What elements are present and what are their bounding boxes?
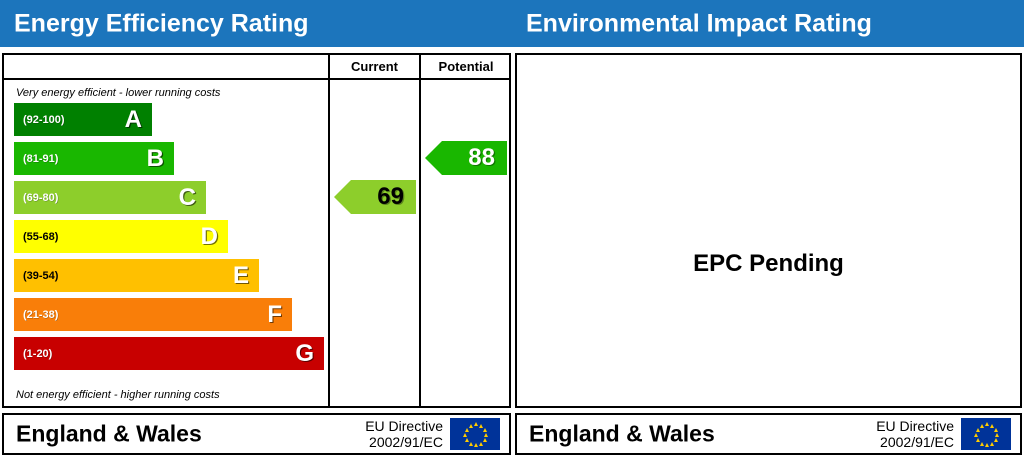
eu-star-icon bbox=[985, 422, 989, 426]
current-rating-arrow: 69 bbox=[334, 180, 416, 214]
rating-band-c: (69-80) C bbox=[14, 181, 206, 214]
energy-efficiency-title: Energy Efficiency Rating bbox=[14, 9, 309, 38]
band-letter-f: F bbox=[267, 303, 282, 327]
environmental-impact-footer: England & Wales EU Directive 2002/91/EC bbox=[515, 413, 1022, 455]
current-rating-value: 69 bbox=[377, 185, 404, 209]
band-letter-g: G bbox=[295, 342, 314, 366]
eu-star-icon bbox=[469, 424, 473, 428]
energy-efficiency-header: Energy Efficiency Rating bbox=[0, 0, 512, 47]
column-header-potential: Potential bbox=[421, 58, 511, 76]
band-letter-a: A bbox=[125, 108, 142, 132]
footer-directive-line2-right: 2002/91/EC bbox=[876, 434, 954, 450]
environmental-impact-chart: EPC Pending bbox=[515, 53, 1022, 408]
energy-efficiency-panel: Energy Efficiency Rating Current Potenti… bbox=[0, 0, 512, 457]
band-range-b: (81-91) bbox=[23, 153, 58, 165]
eu-flag-icon bbox=[960, 417, 1012, 451]
band-range-g: (1-20) bbox=[23, 348, 52, 360]
band-letter-c: C bbox=[179, 186, 196, 210]
rating-band-d: (55-68) D bbox=[14, 220, 228, 253]
eu-star-icon bbox=[484, 433, 488, 437]
column-divider-right bbox=[419, 55, 421, 406]
band-range-e: (39-54) bbox=[23, 270, 58, 282]
eu-star-icon bbox=[479, 442, 483, 446]
eu-star-icon bbox=[483, 438, 487, 442]
potential-rating-arrow: 88 bbox=[425, 141, 507, 175]
eu-flag-icon bbox=[449, 417, 501, 451]
eu-star-icon bbox=[976, 438, 980, 442]
eu-star-icon bbox=[974, 433, 978, 437]
footer-directive-line1: EU Directive bbox=[365, 418, 443, 434]
environmental-impact-header: Environmental Impact Rating bbox=[512, 0, 1024, 47]
potential-rating-value: 88 bbox=[468, 146, 495, 170]
eu-star-icon bbox=[995, 433, 999, 437]
band-range-f: (21-38) bbox=[23, 309, 58, 321]
eu-star-icon bbox=[990, 442, 994, 446]
band-letter-d: D bbox=[201, 225, 218, 249]
footer-directive-label: EU Directive 2002/91/EC bbox=[365, 418, 443, 450]
footer-directive-label-right: EU Directive 2002/91/EC bbox=[876, 418, 954, 450]
caption-very-efficient: Very energy efficient - lower running co… bbox=[16, 87, 220, 99]
band-range-d: (55-68) bbox=[23, 231, 58, 243]
eu-star-icon bbox=[474, 422, 478, 426]
column-header-current: Current bbox=[330, 58, 419, 76]
eu-star-icon bbox=[994, 438, 998, 442]
caption-not-efficient: Not energy efficient - higher running co… bbox=[16, 389, 220, 401]
band-range-c: (69-80) bbox=[23, 192, 58, 204]
eu-star-icon bbox=[994, 428, 998, 432]
column-divider-left bbox=[328, 55, 330, 406]
energy-efficiency-footer: England & Wales EU Directive 2002/91/EC bbox=[2, 413, 511, 455]
rating-band-list: (92-100) A (81-91) B (69-80) C (55-68) D… bbox=[4, 103, 328, 383]
eu-star-icon bbox=[474, 443, 478, 447]
environmental-impact-title: Environmental Impact Rating bbox=[526, 9, 872, 38]
eu-star-icon bbox=[980, 424, 984, 428]
rating-band-a: (92-100) A bbox=[14, 103, 152, 136]
environmental-impact-panel: Environmental Impact Rating EPC Pending … bbox=[512, 0, 1024, 457]
rating-band-f: (21-38) F bbox=[14, 298, 292, 331]
rating-band-g: (1-20) G bbox=[14, 337, 324, 370]
footer-directive-line2: 2002/91/EC bbox=[365, 434, 443, 450]
eu-star-icon bbox=[483, 428, 487, 432]
footer-region-label-right: England & Wales bbox=[529, 421, 715, 448]
band-letter-e: E bbox=[233, 264, 249, 288]
rating-band-e: (39-54) E bbox=[14, 259, 259, 292]
eu-star-icon bbox=[465, 428, 469, 432]
eu-star-icon bbox=[463, 433, 467, 437]
eu-star-icon bbox=[976, 428, 980, 432]
footer-region-label: England & Wales bbox=[16, 421, 202, 448]
energy-efficiency-chart: Current Potential Very energy efficient … bbox=[2, 53, 511, 408]
band-range-a: (92-100) bbox=[23, 114, 65, 126]
eu-star-icon bbox=[980, 442, 984, 446]
footer-directive-line1-right: EU Directive bbox=[876, 418, 954, 434]
epc-pending-message: EPC Pending bbox=[517, 250, 1020, 278]
rating-band-b: (81-91) B bbox=[14, 142, 174, 175]
band-letter-b: B bbox=[147, 147, 164, 171]
eu-star-icon bbox=[469, 442, 473, 446]
eu-star-icon bbox=[985, 443, 989, 447]
epc-certificate-graphic: Energy Efficiency Rating Current Potenti… bbox=[0, 0, 1024, 457]
eu-star-icon bbox=[465, 438, 469, 442]
